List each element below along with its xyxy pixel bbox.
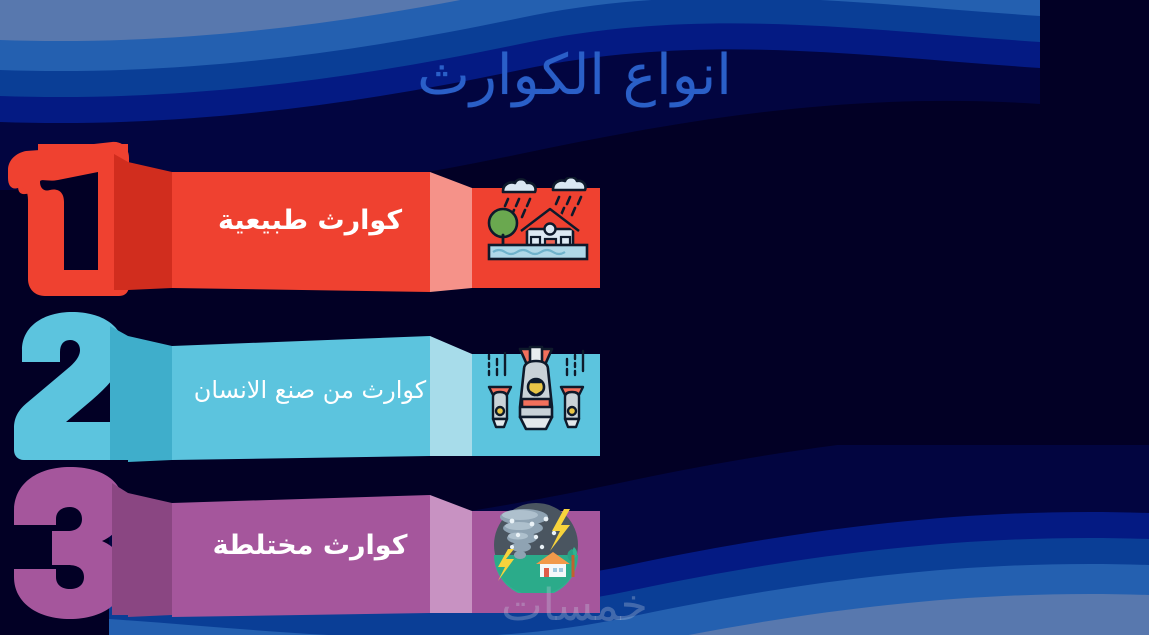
slide-title: انواع الكوارث — [0, 44, 1149, 108]
ribbon-item-1[interactable]: كوارث طبيعية — [0, 140, 620, 300]
numeral-3-shape — [14, 467, 126, 619]
ribbon-shape-1 — [0, 140, 620, 300]
ribbon-item-2[interactable]: كوارث من صنع الانسان — [0, 310, 620, 470]
numeral-2-shape — [14, 312, 124, 460]
ribbon-item-3[interactable]: كوارث مختلطة — [0, 465, 620, 625]
numeral-1-shape — [8, 142, 129, 296]
slide-canvas: انواع الكوارث كوارث طبيعية — [0, 0, 1149, 635]
ribbon-shape-2 — [0, 310, 620, 470]
ribbon-shape-3 — [0, 465, 620, 625]
